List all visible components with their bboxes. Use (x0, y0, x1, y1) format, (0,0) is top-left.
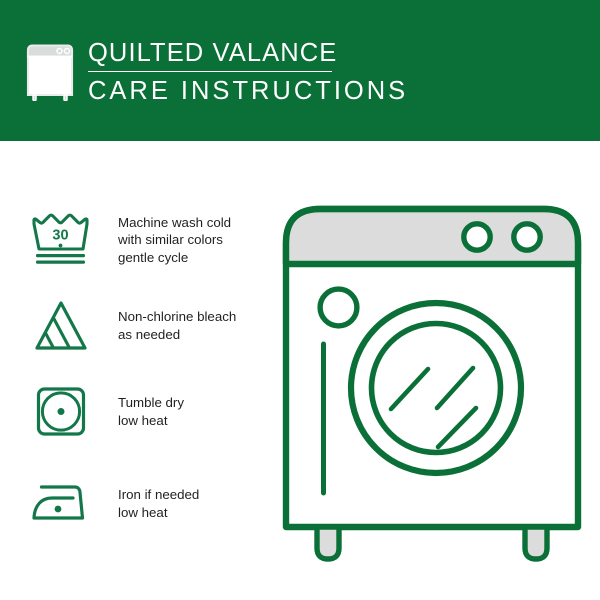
care-row-machine-wash: 30 Machine wash cold with similar colors… (0, 197, 290, 283)
washing-machine-icon (24, 41, 76, 101)
care-row-iron: Iron if needed low heat (0, 461, 290, 547)
care-label-tumble-dry: Tumble dry low heat (118, 394, 184, 429)
foot-right (525, 527, 547, 559)
iron-low-heat-icon (28, 471, 94, 537)
header-title-group: QUILTED VALANCE CARE INSTRUCTIONS (88, 38, 558, 107)
washing-machine-illustration (281, 196, 583, 564)
foot-left (317, 527, 339, 559)
header-banner: QUILTED VALANCE CARE INSTRUCTIONS (0, 0, 600, 141)
care-label-bleach: Non-chlorine bleach as needed (118, 308, 236, 343)
title-divider (88, 71, 332, 72)
infographic-page: QUILTED VALANCE CARE INSTRUCTIONS 30 (0, 0, 600, 600)
care-label-machine-wash: Machine wash cold with similar colors ge… (118, 214, 231, 267)
knob-right-icon (514, 224, 540, 250)
wash-temperature-label: 30 (52, 228, 68, 244)
wash-tub-30-gentle-icon: 30 (28, 207, 94, 273)
triangle-non-chlorine-bleach-icon (28, 293, 94, 359)
page-title: QUILTED VALANCE (88, 38, 558, 68)
tumble-dry-low-heat-icon (28, 379, 94, 445)
care-row-bleach: Non-chlorine bleach as needed (0, 283, 290, 369)
care-instruction-list: 30 Machine wash cold with similar colors… (0, 141, 290, 600)
knob-left-icon (464, 224, 490, 250)
care-row-tumble-dry: Tumble dry low heat (0, 369, 290, 455)
care-label-iron: Iron if needed low heat (118, 486, 199, 521)
page-subtitle: CARE INSTRUCTIONS (88, 76, 558, 107)
